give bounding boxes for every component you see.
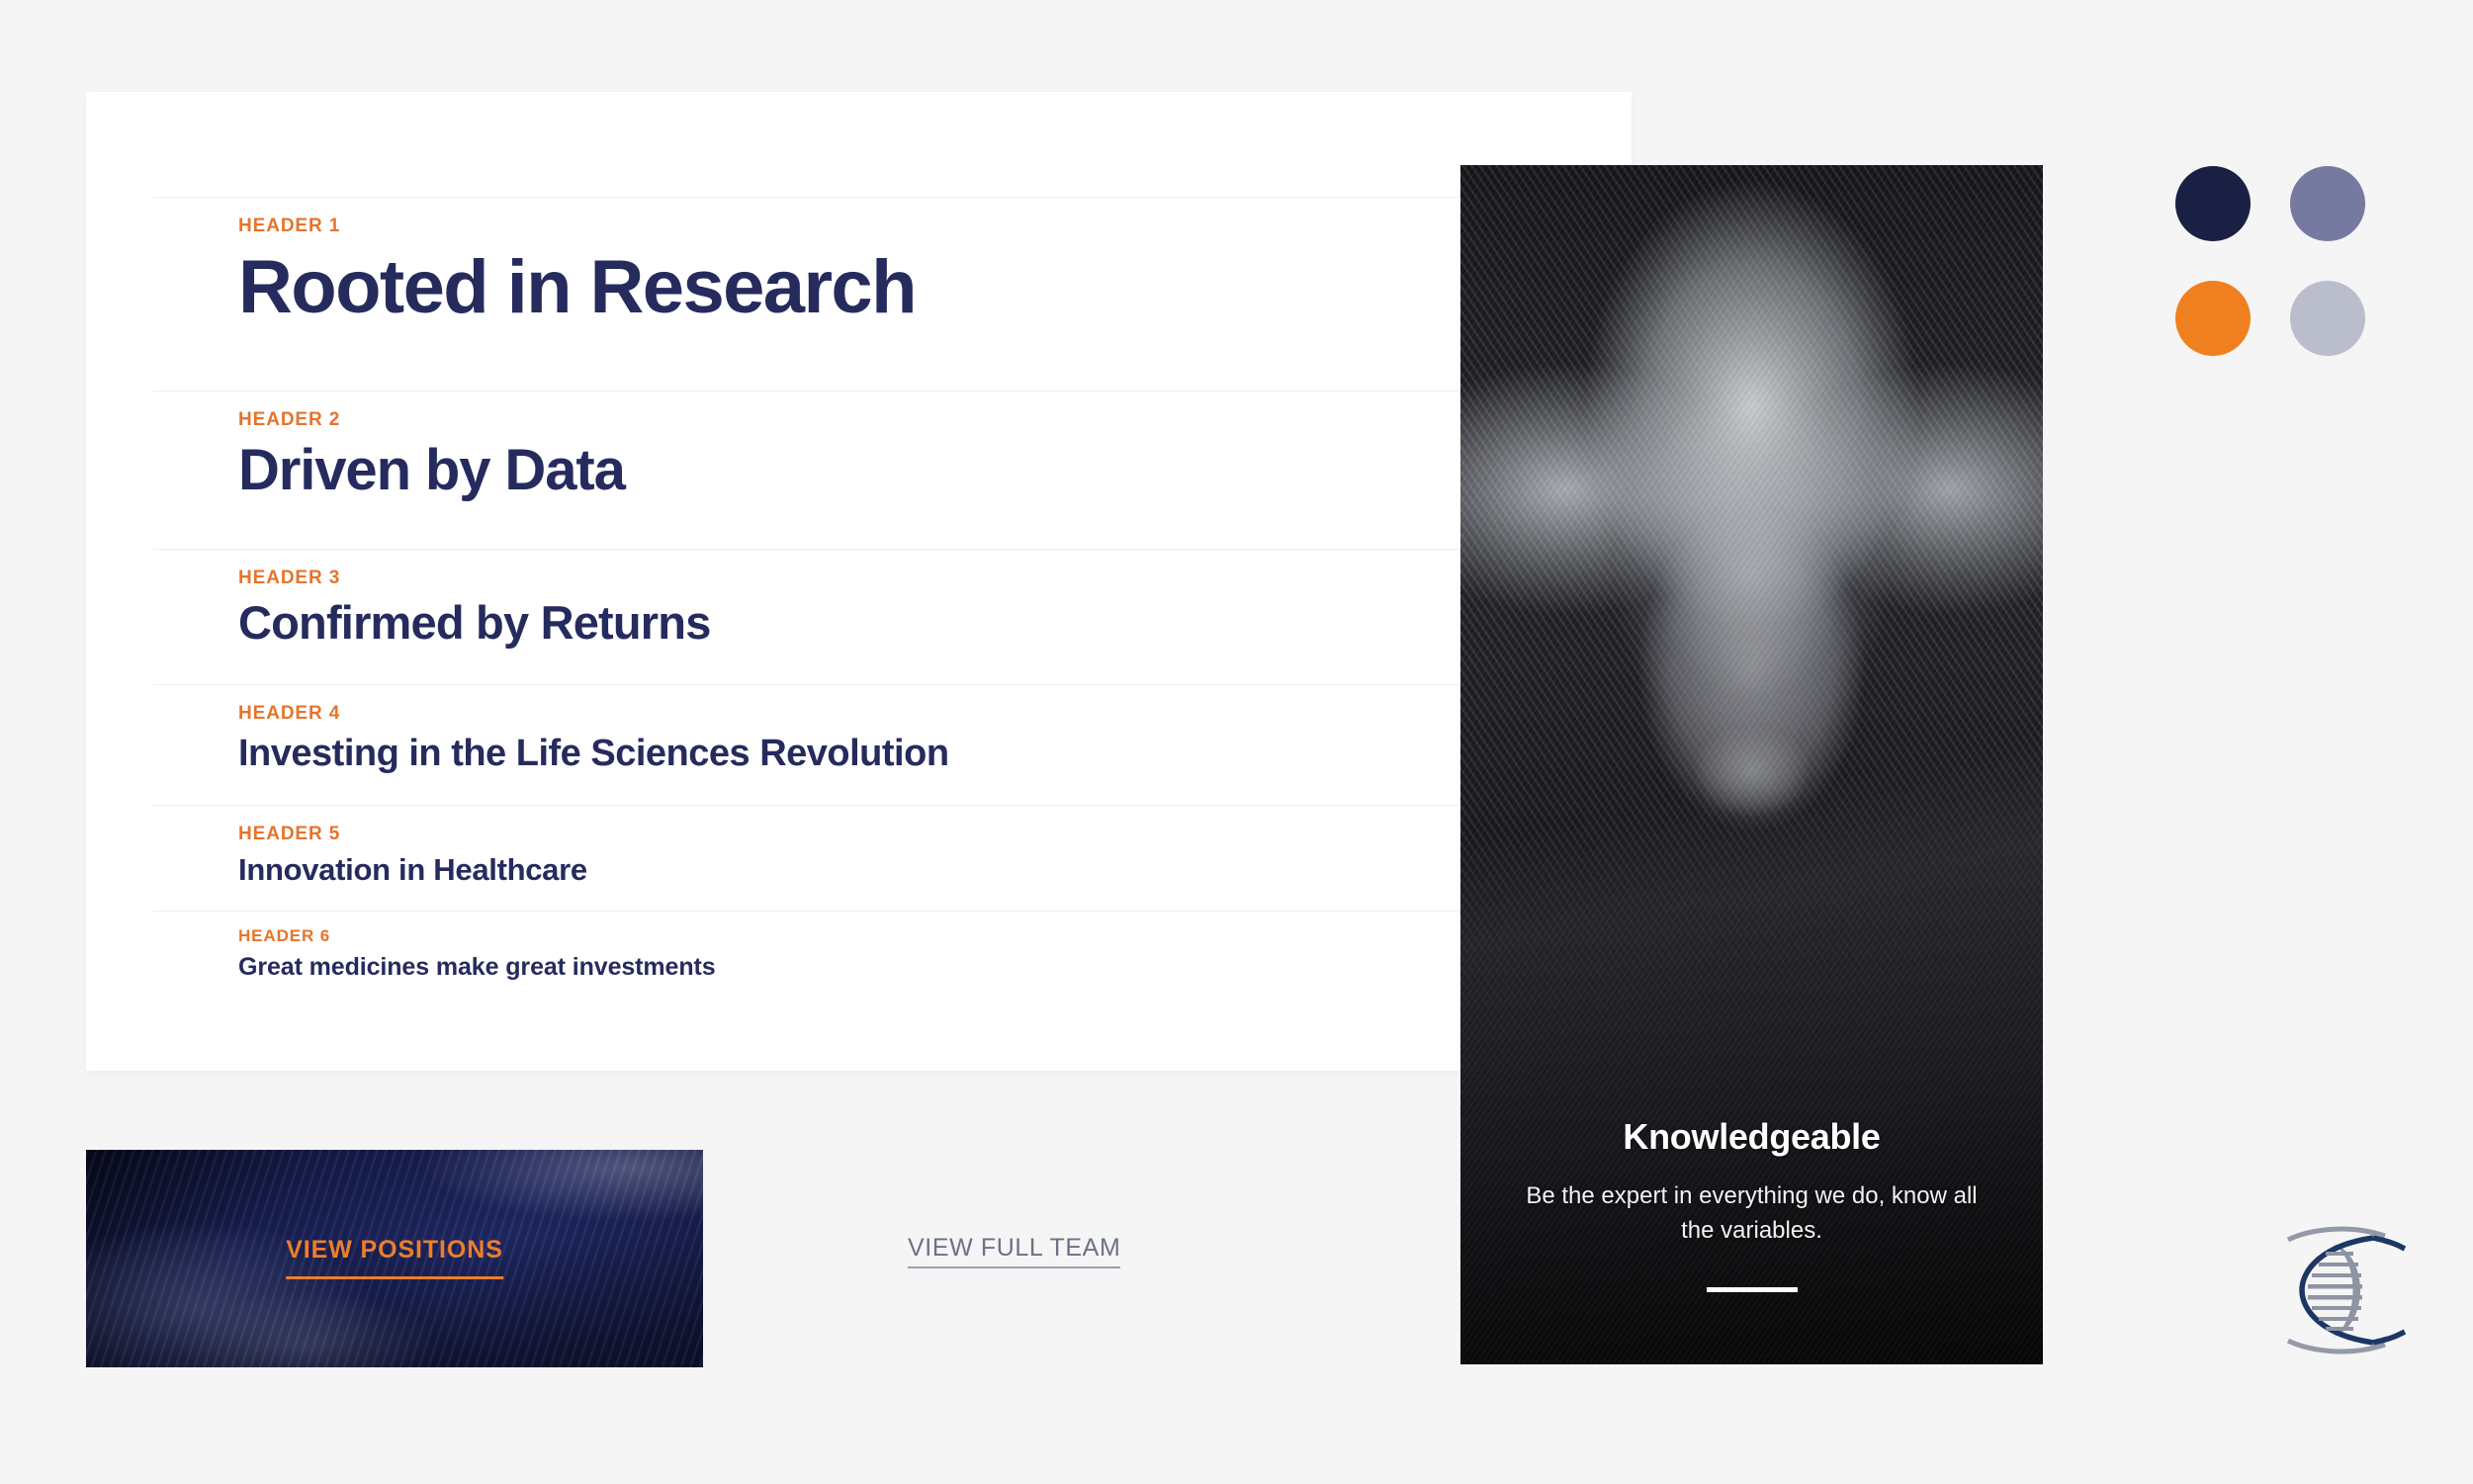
header-eyebrow: HEADER 3 (238, 568, 1632, 587)
view-positions-button[interactable]: VIEW POSITIONS (286, 1238, 503, 1279)
header-title: Investing in the Life Sciences Revolutio… (238, 733, 1632, 775)
view-positions-label: VIEW POSITIONS (286, 1238, 503, 1263)
slide-caption: Be the expert in everything we do, know … (1518, 1178, 1986, 1249)
header-row[interactable]: HEADER 2 Driven by Data (153, 391, 1632, 549)
slide-card[interactable]: Knowledgeable Be the expert in everythin… (1460, 165, 2043, 1364)
header-eyebrow: HEADER 5 (238, 825, 1632, 843)
header-eyebrow: HEADER 1 (238, 217, 1632, 235)
header-row[interactable]: HEADER 6 Great medicines make great inve… (153, 911, 1632, 1009)
slide-overlay: Knowledgeable Be the expert in everythin… (1460, 165, 2043, 1364)
header-title: Innovation in Healthcare (238, 853, 1632, 888)
headers-list: HEADER 1 Rooted in Research HEADER 2 Dri… (153, 92, 1632, 1071)
color-swatches (2175, 166, 2405, 395)
header-row[interactable]: HEADER 1 Rooted in Research (153, 197, 1632, 391)
header-row[interactable]: HEADER 4 Investing in the Life Sciences … (153, 684, 1632, 805)
header-eyebrow: HEADER 4 (238, 704, 1632, 723)
headers-card: HEADER 1 Rooted in Research HEADER 2 Dri… (86, 92, 1632, 1071)
swatch-light-gray[interactable] (2290, 281, 2365, 356)
slide-divider (1707, 1287, 1798, 1292)
view-positions-underline (286, 1276, 503, 1279)
view-positions-card[interactable]: VIEW POSITIONS (86, 1150, 703, 1367)
header-title: Rooted in Research (238, 245, 1632, 329)
header-row[interactable]: HEADER 3 Confirmed by Returns (153, 549, 1632, 684)
header-title: Confirmed by Returns (238, 597, 1632, 650)
header-title: Driven by Data (238, 439, 1632, 503)
header-row[interactable]: HEADER 5 Innovation in Healthcare (153, 805, 1632, 911)
dna-helix-logo (2274, 1216, 2428, 1364)
swatch-navy[interactable] (2175, 166, 2251, 241)
swatch-slate-blue[interactable] (2290, 166, 2365, 241)
header-eyebrow: HEADER 2 (238, 410, 1632, 429)
header-eyebrow: HEADER 6 (238, 927, 1632, 944)
slide-title: Knowledgeable (1460, 1116, 2043, 1158)
view-full-team-link[interactable]: VIEW FULL TEAM (908, 1234, 1120, 1268)
header-title: Great medicines make great investments (238, 953, 1632, 981)
swatch-orange[interactable] (2175, 281, 2251, 356)
